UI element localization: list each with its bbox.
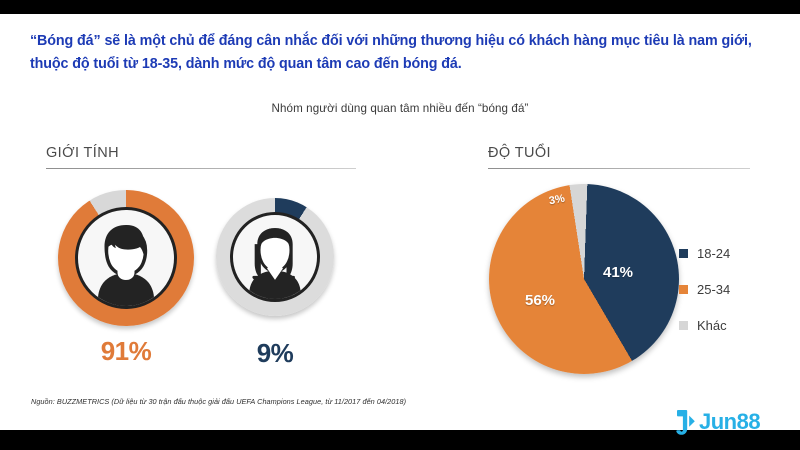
female-donut-chart [216,198,334,316]
jun88-logo[interactable]: Jun88 [676,408,760,436]
slide-stage: “Bóng đá” sẽ là một chủ để đáng cân nhắc… [0,0,800,450]
slide-canvas: “Bóng đá” sẽ là một chủ để đáng cân nhắc… [0,14,800,430]
male-donut-chart [58,190,194,326]
male-avatar-icon [83,218,169,306]
male-avatar-circle [75,207,177,309]
chart-subtitle: Nhóm người dùng quan tâm nhiều đến “bóng… [0,102,800,115]
age-pie-chart: 41% 56% 3% [489,184,679,374]
male-donut-ring [58,190,194,326]
legend-label-25-34: 25-34 [697,282,730,297]
pie-label-18-24: 41% [603,264,633,281]
female-percentage: 9% [216,338,334,369]
gender-panel-rule [46,168,356,169]
logo-text: Jun88 [699,409,760,435]
legend-label-18-24: 18-24 [697,246,730,261]
male-percentage: 91% [58,336,194,367]
female-avatar-icon [237,221,313,299]
legend-swatch-25-34 [679,285,688,294]
source-note: Nguồn: BUZZMETRICS (Dữ liệu từ 30 trận đ… [31,397,406,406]
page-title: “Bóng đá” sẽ là một chủ để đáng cân nhắc… [30,30,778,76]
legend-item-18-24[interactable]: 18-24 [679,235,730,271]
legend-label-khac: Khác [697,318,727,333]
letterbox-top [0,0,800,14]
gender-panel-title: GIỚI TÍNH [46,145,119,161]
legend-item-khac[interactable]: Khác [679,307,730,343]
legend-item-25-34[interactable]: 25-34 [679,271,730,307]
female-avatar-circle [230,212,320,302]
headline-line-2: thuộc độ tuổi từ 18-35, dành mức độ quan… [30,53,778,76]
headline-line-1: “Bóng đá” sẽ là một chủ để đáng cân nhắc… [30,30,778,53]
pie-label-khac: 3% [548,193,566,208]
age-panel-title: ĐỘ TUỔI [488,145,551,161]
age-pie-slices: 41% 56% 3% [489,184,679,374]
age-panel-rule [488,168,750,169]
legend-swatch-18-24 [679,249,688,258]
female-donut-ring [216,198,334,316]
elephant-play-icon [676,408,696,436]
legend-swatch-khac [679,321,688,330]
pie-label-25-34: 56% [525,292,555,309]
age-legend: 18-24 25-34 Khác [679,235,730,343]
